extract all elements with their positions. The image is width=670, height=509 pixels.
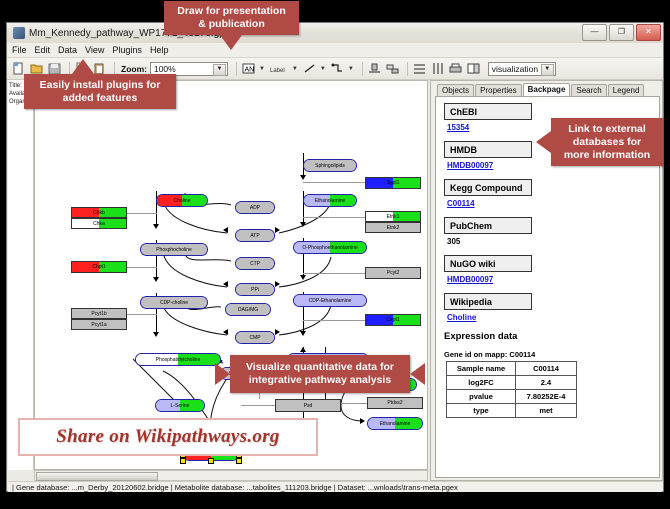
node-label: Ptdss2: [387, 400, 402, 406]
metabolite-node-adp[interactable]: ADP: [235, 201, 275, 214]
node-label: Phosphatidylcholine: [156, 357, 200, 363]
db-value-pubchem: 305: [447, 237, 659, 246]
scrollbar-thumb[interactable]: [36, 472, 158, 481]
menu-data[interactable]: Data: [58, 45, 77, 55]
callout-links: Link to external databases for more info…: [551, 118, 663, 166]
menu-edit[interactable]: Edit: [35, 45, 51, 55]
table-row: Sample nameC00114: [447, 362, 577, 376]
expression-value: 2.4: [516, 376, 577, 390]
expression-value: C00114: [516, 362, 577, 376]
status-bar: | Gene database: ...m_Derby_20120602.bri…: [8, 481, 662, 492]
tab-objects[interactable]: Objects: [437, 84, 474, 96]
zoom-label: Zoom:: [121, 64, 147, 74]
callout-links-pointer: [536, 131, 551, 153]
node-label: CDP-Ethanolamine: [309, 298, 352, 304]
gene-node-chka[interactable]: Chka: [71, 218, 127, 229]
gene-node-psd[interactable]: Psd: [275, 399, 341, 412]
callout-visualize-line2: integrative pathway analysis: [249, 374, 391, 386]
metabolite-node-choline[interactable]: Choline: [156, 194, 208, 207]
callout-draw-line1: Draw for presentation: [177, 5, 286, 17]
node-label: CTP: [250, 261, 260, 267]
zoom-value: 100%: [154, 64, 176, 74]
expression-key: pvalue: [447, 390, 516, 404]
db-header-nugo-wiki: NuGO wiki: [444, 255, 532, 272]
edge-pcyt2-stub: [303, 273, 365, 274]
expression-value: met: [516, 404, 577, 418]
node-label: Cept1: [386, 317, 399, 323]
selection-handle[interactable]: [236, 458, 242, 464]
node-label: Pcyt1b: [91, 311, 106, 317]
arrow-ethanolamine: [360, 418, 365, 424]
arrow-right-atp: [275, 227, 280, 233]
connector-icon[interactable]: [330, 61, 345, 76]
stack-icon[interactable]: [430, 61, 445, 76]
edge-pcyt1-stub: [127, 314, 157, 315]
visualization-value: visualization: [492, 64, 538, 74]
node-label: Ethanolamine: [380, 421, 411, 427]
metabolite-node-o-phosphoethanolamine[interactable]: O-Phosphoethanolamine: [293, 241, 367, 254]
properties-icon[interactable]: [466, 61, 481, 76]
screenshot-root: Mm_Kennedy_pathway_WP1771_45176.gpml — ❐…: [0, 0, 670, 509]
canvas-horizontal-scrollbar[interactable]: [34, 470, 428, 481]
toolbar-separator-5: [407, 62, 408, 76]
selection-handle[interactable]: [180, 458, 186, 464]
node-label: L-Serine: [171, 403, 190, 409]
connector-dropdown-icon[interactable]: ▼: [348, 66, 354, 72]
callout-visualize-pointer-left: [215, 363, 230, 385]
callout-plugins: Easily install plugins for added feature…: [24, 74, 176, 109]
menu-plugins[interactable]: Plugins: [112, 45, 142, 55]
close-button[interactable]: ✕: [636, 24, 661, 41]
edge-chk-stub: [127, 213, 157, 214]
text-label-icon[interactable]: AN: [241, 61, 256, 76]
metabolite-node-ethanolamine[interactable]: Ethanolamine: [367, 417, 423, 430]
db-value-nugo-wiki[interactable]: HMDB00097: [447, 275, 659, 284]
minimize-button[interactable]: —: [582, 24, 607, 41]
metabolite-node-sphingolipids[interactable]: Sphingolipids: [303, 159, 357, 172]
expression-key: type: [447, 404, 516, 418]
metabolite-node-cdp-ethanolamine[interactable]: CDP-Ethanolamine: [293, 294, 367, 307]
node-label: ATP: [250, 233, 259, 239]
expression-key: Sample name: [447, 362, 516, 376]
menu-help[interactable]: Help: [150, 45, 169, 55]
edge-chpt1-stub: [127, 267, 157, 268]
metabolite-node-ctp[interactable]: CTP: [235, 257, 275, 270]
gene-node-pcyt1a[interactable]: Pcyt1a: [71, 319, 127, 330]
node-label: PPi: [251, 287, 259, 293]
callout-plugins-pointer: [72, 59, 94, 74]
callout-links-line2: databases for: [573, 136, 641, 148]
edge-cept1-stub: [303, 320, 365, 321]
pathway-canvas[interactable]: SphingolipidsEthanolamineO-Phosphoethano…: [34, 80, 428, 470]
arrow-left-cmp: [223, 329, 228, 335]
gene-node-chpt1[interactable]: Chpt1: [71, 261, 127, 273]
node-label: Sgpl1: [387, 180, 400, 186]
node-label: Phosphocholine: [156, 247, 192, 253]
line-dropdown-icon[interactable]: ▼: [320, 66, 326, 72]
table-row: log2FC2.4: [447, 376, 577, 390]
tab-search[interactable]: Search: [571, 84, 606, 96]
expression-key: log2FC: [447, 376, 516, 390]
metabolite-node-dag-mg[interactable]: DAG/MG: [225, 303, 271, 316]
align-icon[interactable]: [367, 61, 382, 76]
share-banner: Share on Wikipathways.org: [18, 418, 318, 456]
metabolite-node-phosphatidylcholine[interactable]: Phosphatidylcholine: [135, 353, 221, 366]
node-label: Chkb: [93, 210, 105, 216]
maximize-button[interactable]: ❐: [609, 24, 634, 41]
metabolite-node-l-serine[interactable]: L-Serine: [155, 399, 205, 412]
svg-text:AN: AN: [244, 67, 254, 74]
menu-view[interactable]: View: [85, 45, 104, 55]
status-text: | Gene database: ...m_Derby_20120602.bri…: [12, 483, 458, 492]
order-icon[interactable]: [385, 61, 400, 76]
callout-links-line3: more information: [564, 149, 650, 161]
node-label: CMP: [249, 335, 260, 341]
side-panel-tabs: ObjectsPropertiesBackpageSearchLegend: [431, 81, 662, 96]
arrow-left-atp: [223, 227, 228, 233]
gene-node-chkb[interactable]: Chkb: [71, 207, 127, 218]
db-header-hmdb: HMDB: [444, 141, 532, 158]
metabolite-node-cdp-choline[interactable]: CDP-choline: [140, 296, 208, 309]
callout-draw-line2: & publication: [198, 18, 265, 30]
edge-psd-stub: [241, 405, 275, 406]
node-label: Pcyt1a: [91, 322, 106, 328]
callout-visualize-pointer-right: [410, 363, 425, 385]
gene-node-sgpl1[interactable]: Sgpl1: [365, 177, 421, 189]
node-label: Etnk1: [387, 214, 400, 220]
metabolite-node-ppi[interactable]: PPi: [235, 283, 275, 296]
node-label: O-Phosphoethanolamine: [302, 245, 357, 251]
svg-text:Label: Label: [270, 68, 285, 74]
metabolite-node-ethanolamine[interactable]: Ethanolamine: [303, 194, 357, 207]
edge-sgpl1-stub: [303, 182, 365, 183]
toolbar-separator-4: [362, 62, 363, 76]
text-label-dropdown-icon[interactable]: ▼: [259, 66, 265, 72]
arrow-right-cmp: [275, 329, 280, 335]
share-banner-text: Share on Wikipathways.org: [56, 426, 279, 448]
expression-value: 7.80252E-4: [516, 390, 577, 404]
node-label: Sphingolipids: [315, 163, 345, 169]
print-icon[interactable]: [448, 61, 463, 76]
db-header-chebi: ChEBI: [444, 103, 532, 120]
db-header-pubchem: PubChem: [444, 217, 532, 234]
callout-links-line1: Link to external: [568, 123, 646, 135]
tab-backpage[interactable]: Backpage: [523, 83, 571, 96]
node-label: DAG/MG: [238, 307, 258, 313]
selection-handle[interactable]: [208, 458, 214, 464]
node-label: Ethanolamine: [315, 198, 346, 204]
callout-plugins-line1: Easily install plugins for: [40, 79, 161, 91]
node-label: Pcyt2: [387, 270, 400, 276]
node-label: CDP-choline: [160, 300, 188, 306]
pathway-info-strip: Title: Availa Organi: [8, 80, 34, 470]
node-label: Psd: [304, 403, 313, 409]
node-label: Chpt1: [92, 264, 105, 270]
app-icon: [13, 27, 25, 39]
label-tool-icon[interactable]: Label: [269, 61, 289, 76]
line-icon[interactable]: [302, 61, 317, 76]
chevron-down-icon[interactable]: ▼: [213, 64, 226, 76]
arrow-right-ppi: [275, 281, 280, 287]
db-header-wikipedia: Wikipedia: [444, 293, 532, 310]
callout-draw: Draw for presentation & publication: [164, 1, 299, 35]
db-value-kegg-compound[interactable]: C00114: [447, 199, 659, 208]
callout-visualize-line1: Visualize quantitative data for: [246, 361, 394, 373]
callout-draw-pointer: [220, 35, 242, 50]
edge-ptdss2-stub: [341, 403, 367, 404]
db-value-wikipedia[interactable]: Choline: [447, 313, 659, 322]
menu-file[interactable]: File: [12, 45, 27, 55]
node-label: Chka: [93, 221, 105, 227]
gene-node-pcyt2[interactable]: Pcyt2: [365, 267, 421, 279]
tab-properties[interactable]: Properties: [475, 84, 521, 96]
node-label: Choline: [174, 198, 191, 204]
metabolite-node-atp[interactable]: ATP: [235, 229, 275, 242]
gene-node-etnk2[interactable]: Etnk2: [365, 222, 421, 233]
menu-bar: File Edit Data View Plugins Help: [7, 43, 663, 58]
callout-visualize: Visualize quantitative data for integrat…: [230, 355, 410, 393]
expression-data-heading: Expression data: [444, 331, 659, 342]
gene-node-ptdss2[interactable]: Ptdss2: [367, 397, 423, 409]
arrow-left-ppi: [223, 281, 228, 287]
callout-plugins-line2: added features: [63, 92, 138, 104]
db-header-kegg-compound: Kegg Compound: [444, 179, 532, 196]
gene-id-label: Gene id on mapp: C00114: [444, 350, 659, 359]
table-row: pvalue7.80252E-4: [447, 390, 577, 404]
tab-legend[interactable]: Legend: [608, 84, 645, 96]
visualization-combo[interactable]: visualization ▼: [488, 62, 556, 76]
node-label: ADP: [250, 205, 260, 211]
toolbar-separator-3: [236, 62, 237, 76]
visualization-chevron-icon[interactable]: ▼: [541, 64, 554, 76]
expression-table: Sample nameC00114log2FC2.4pvalue7.80252E…: [446, 361, 577, 418]
distribute-icon[interactable]: [412, 61, 427, 76]
edge-etnk-stub: [303, 217, 365, 218]
gene-node-cept1[interactable]: Cept1: [365, 314, 421, 326]
metabolite-node-cmp[interactable]: CMP: [235, 331, 275, 344]
window-controls: — ❐ ✕: [582, 24, 661, 41]
table-row: typemet: [447, 404, 577, 418]
metabolite-node-phosphocholine[interactable]: Phosphocholine: [140, 243, 208, 256]
label-dropdown-icon[interactable]: ▼: [292, 66, 298, 72]
gene-node-etnk1[interactable]: Etnk1: [365, 211, 421, 222]
title-bar: Mm_Kennedy_pathway_WP1771_45176.gpml — ❐…: [7, 23, 663, 44]
node-label: Etnk2: [387, 225, 400, 231]
gene-node-pcyt1b[interactable]: Pcyt1b: [71, 308, 127, 319]
